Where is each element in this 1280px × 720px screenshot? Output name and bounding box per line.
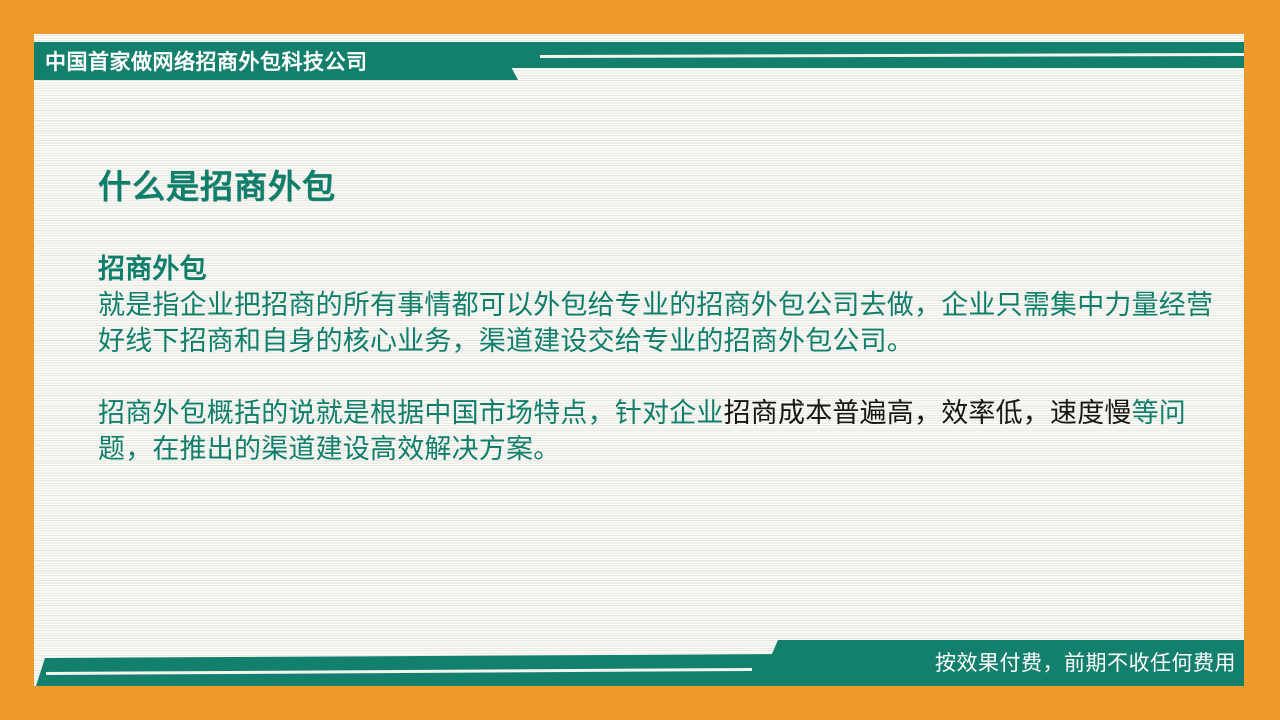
summary-segment-highlight: 招商成本普遍高，效率低，速度慢 [724, 398, 1132, 428]
paragraph-lead-term: 招商外包 [98, 251, 1238, 287]
paragraph-definition-text: 就是指企业把招商的所有事情都可以外包给专业的招商外包公司去做，企业只需集中力量经… [98, 290, 1213, 356]
section-heading: 什么是招商外包 [98, 166, 1238, 207]
paragraph-spacer [98, 359, 1238, 395]
paragraph-definition: 招商外包就是指企业把招商的所有事情都可以外包给专业的招商外包公司去做，企业只需集… [98, 251, 1238, 359]
slide: 中国首家做网络招商外包科技公司 按效果付费，前期不收任何费用 什么是招商外包 招… [0, 0, 1280, 720]
paragraph-summary: 招商外包概括的说就是根据中国市场特点，针对企业招商成本普遍高，效率低，速度慢等问… [98, 395, 1238, 467]
summary-segment-lead: 招商外包概括的说就是根据中国市场特点，针对企业 [98, 398, 724, 428]
content-area: 什么是招商外包 招商外包就是指企业把招商的所有事情都可以外包给专业的招商外包公司… [98, 166, 1238, 467]
